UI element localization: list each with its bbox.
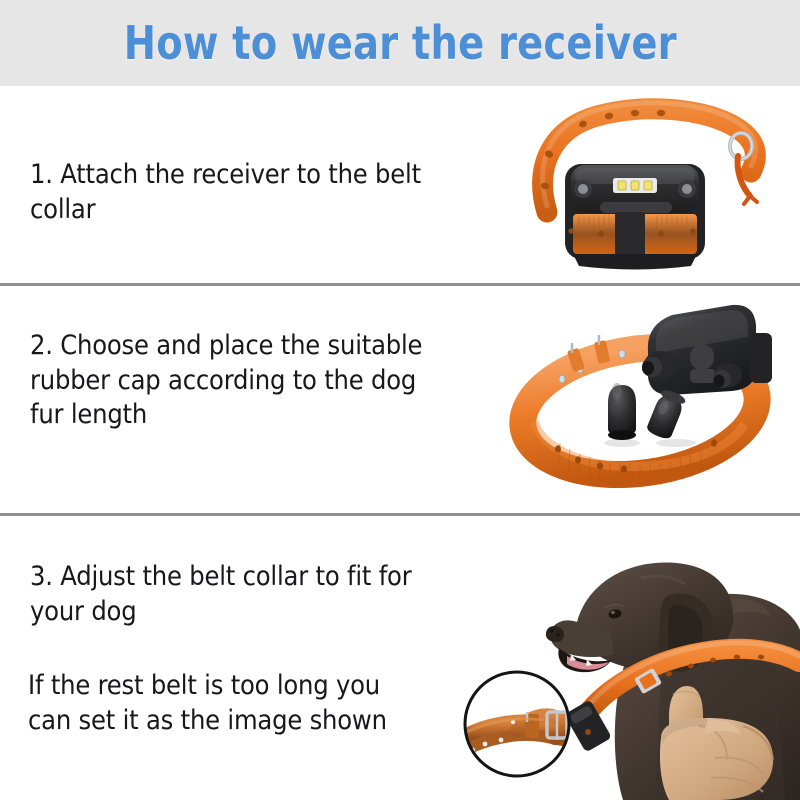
page-header: How to wear the receiver	[0, 0, 800, 86]
page-title: How to wear the receiver	[123, 16, 676, 70]
step-panel-2: 2. Choose and place the suitable rubber …	[0, 286, 800, 513]
collar-with-receiver-image	[505, 94, 795, 279]
step-panel-3: 3. Adjust the belt collar to fit for you…	[0, 516, 800, 800]
note-instruction: If the rest belt is too long you can set…	[28, 669, 478, 738]
dog-wearing-collar-image	[455, 526, 800, 800]
instruction-page: How to wear the receiver 1. Attach the r…	[0, 0, 800, 800]
step-3-instruction: 3. Adjust the belt collar to fit for you…	[30, 560, 480, 629]
step-panel-1: 1. Attach the receiver to the belt colla…	[0, 86, 800, 283]
collar-with-rubber-caps-image	[500, 291, 800, 511]
step-1-instruction: 1. Attach the receiver to the belt colla…	[30, 158, 500, 227]
step-2-instruction: 2. Choose and place the suitable rubber …	[30, 329, 520, 433]
